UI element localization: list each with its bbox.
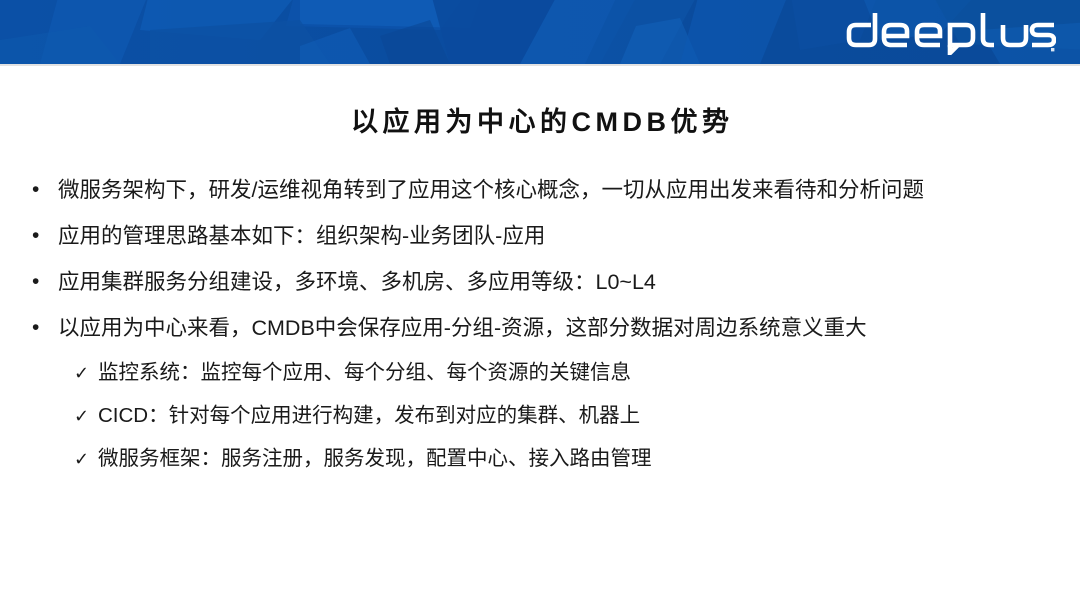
sub-list-item-label: 微服务框架：服务注册，服务发现，配置中心、接入路由管理 [98, 442, 1080, 476]
slide-content: • 微服务架构下，研发/运维视角转到了应用这个核心概念，一切从应用出发来看待和分… [0, 172, 1080, 485]
header-banner: deeplus [0, 0, 1080, 64]
checkmark-icon: ✓ [74, 399, 98, 433]
list-item: • 应用的管理思路基本如下：组织架构-业务团队-应用 [0, 218, 1080, 264]
checkmark-icon: ✓ [74, 442, 98, 476]
bullet-dot-icon: • [32, 172, 58, 208]
page-title: 以应用为中心的CMDB优势 [0, 104, 1080, 140]
list-item: • 微服务架构下，研发/运维视角转到了应用这个核心概念，一切从应用出发来看待和分… [0, 172, 1080, 218]
checkmark-icon: ✓ [74, 356, 98, 390]
list-item: • 应用集群服务分组建设，多环境、多机房、多应用等级：L0~L4 [0, 264, 1080, 310]
sub-list-item: ✓ 监控系统：监控每个应用、每个分组、每个资源的关键信息 [0, 356, 1080, 399]
list-item-label: 应用的管理思路基本如下：组织架构-业务团队-应用 [58, 218, 1080, 254]
deeplus-logo: deeplus [842, 7, 1056, 55]
bullet-dot-icon: • [32, 218, 58, 254]
sub-list-item-label: CICD：针对每个应用进行构建，发布到对应的集群、机器上 [98, 399, 1080, 433]
bullet-dot-icon: • [32, 264, 58, 300]
banner-underline [0, 64, 1080, 66]
bullet-dot-icon: • [32, 310, 58, 346]
sub-list-item-label: 监控系统：监控每个应用、每个分组、每个资源的关键信息 [98, 356, 1080, 390]
list-item-label: 以应用为中心来看，CMDB中会保存应用-分组-资源，这部分数据对周边系统意义重大 [58, 310, 1080, 346]
list-item: • 以应用为中心来看，CMDB中会保存应用-分组-资源，这部分数据对周边系统意义… [0, 310, 1080, 356]
list-item-label: 微服务架构下，研发/运维视角转到了应用这个核心概念，一切从应用出发来看待和分析问… [58, 172, 1080, 208]
sub-list-item: ✓ 微服务框架：服务注册，服务发现，配置中心、接入路由管理 [0, 442, 1080, 485]
list-item-label: 应用集群服务分组建设，多环境、多机房、多应用等级：L0~L4 [58, 264, 1080, 300]
sub-list-item: ✓ CICD：针对每个应用进行构建，发布到对应的集群、机器上 [0, 399, 1080, 442]
